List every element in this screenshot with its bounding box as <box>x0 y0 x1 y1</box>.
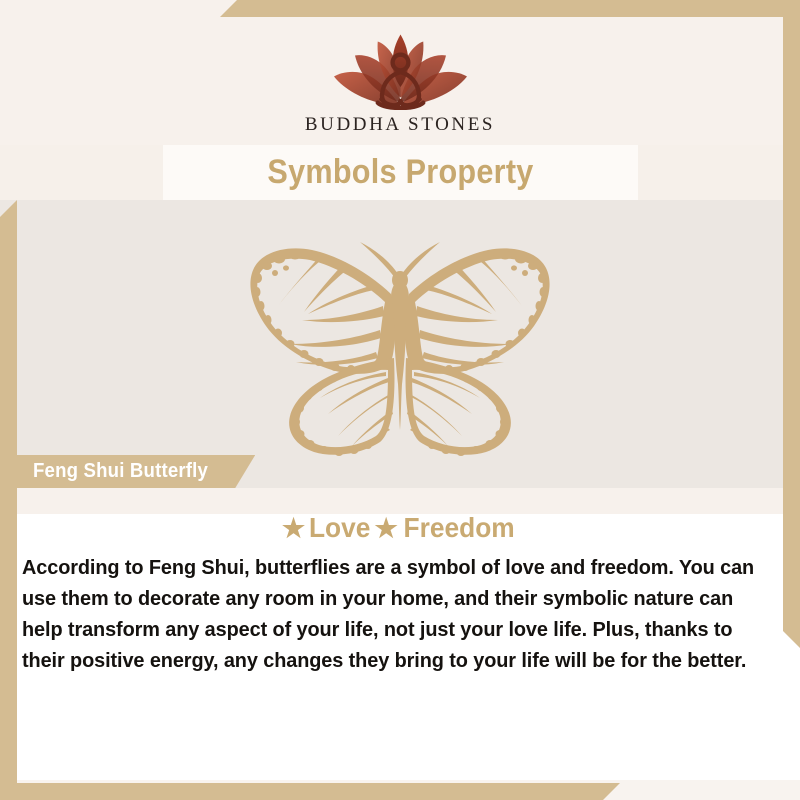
description-paragraph: According to Feng Shui, butterflies are … <box>22 552 761 676</box>
gold-border-bottom <box>0 783 620 800</box>
keyword-love: Love <box>309 512 370 544</box>
star-icon-left: ★ <box>282 515 305 541</box>
ribbon-label: Feng Shui Butterfly <box>33 460 208 483</box>
status-badge: Feng Shui Butterfly <box>17 455 255 488</box>
brand-name: BUDDHA STONES <box>305 114 495 136</box>
lotus-meditation-figure-logo-icon <box>313 22 488 110</box>
keywords-headline: ★ Love ★ Freedom <box>0 512 800 544</box>
gold-border-top <box>220 0 800 17</box>
brand-logo: BUDDHA STONES <box>0 22 800 136</box>
poster-root: BUDDHA STONES Symbols Property <box>0 0 800 800</box>
background-panel-text-tint <box>0 488 783 514</box>
feature-illustration <box>0 232 800 462</box>
star-icon-mid: ★ <box>375 515 398 541</box>
keyword-freedom: Freedom <box>403 512 514 544</box>
butterfly-illustration-icon <box>220 232 580 462</box>
page-title: Symbols Property <box>187 145 615 200</box>
